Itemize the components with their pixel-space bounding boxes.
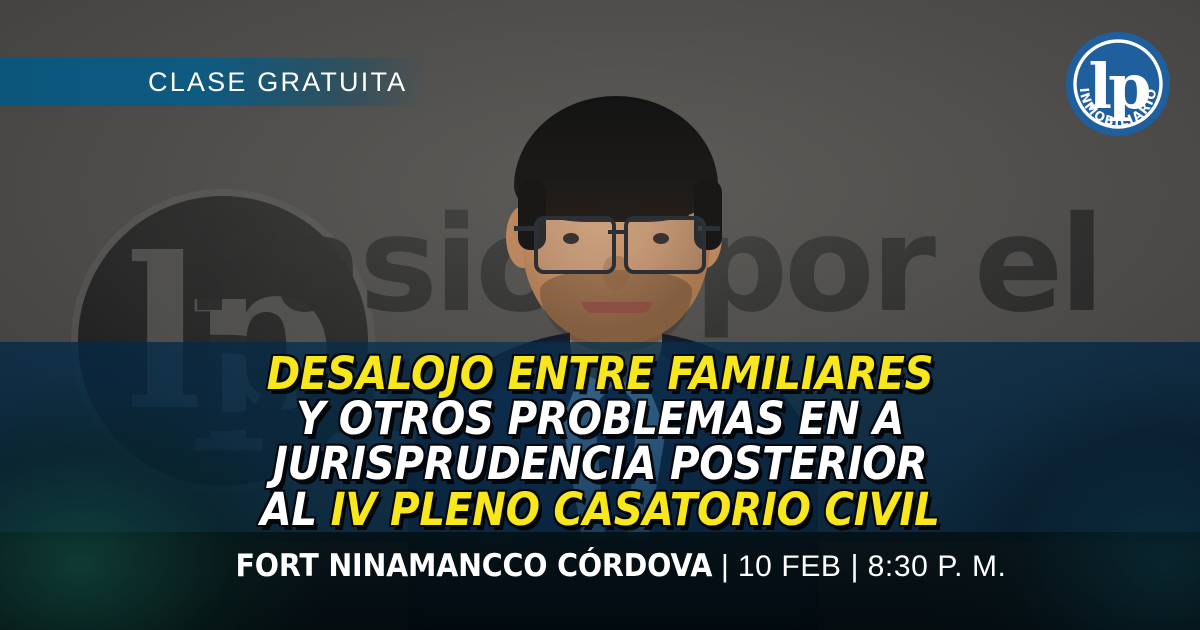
portrait-glasses-temple-left xyxy=(514,226,536,231)
headline: DESALOJO ENTRE FAMILIARES Y OTROS PROBLE… xyxy=(0,352,1200,533)
portrait-glasses-lens-left xyxy=(534,216,616,274)
event-date: 10 FEB xyxy=(738,550,842,583)
separator-1: | xyxy=(712,548,738,583)
portrait-glasses-bridge xyxy=(608,230,624,234)
promo-poster: lp Pasión por el Derecho xyxy=(0,0,1200,630)
headline-line-4-prefix: AL xyxy=(260,483,330,536)
headline-line-1: DESALOJO ENTRE FAMILIARES xyxy=(60,352,1140,395)
clase-gratuita-ribbon: CLASE GRATUITA xyxy=(0,58,430,106)
speaker-name: FORT NINAMANCCO CÓRDOVA xyxy=(235,548,712,584)
portrait-mouth xyxy=(582,302,652,313)
clase-gratuita-label: CLASE GRATUITA xyxy=(148,67,407,98)
headline-line-4-highlight: IV PLENO CASATORIO CIVIL xyxy=(331,483,940,536)
logo-badge-icon: lp INMOBILIARIO xyxy=(1062,28,1174,140)
headline-line-2: Y OTROS PROBLEMAS EN A xyxy=(60,397,1140,440)
separator-2: | xyxy=(842,548,868,583)
lp-inmobiliario-logo[interactable]: lp INMOBILIARIO xyxy=(1062,28,1174,140)
headline-line-4: AL IV PLENO CASATORIO CIVIL xyxy=(60,488,1140,531)
headline-line-3: JURISPRUDENCIA POSTERIOR xyxy=(60,442,1140,485)
event-time: 8:30 P. M. xyxy=(868,550,1007,583)
portrait-glasses-lens-right xyxy=(624,216,706,274)
speaker-schedule-line: FORT NINAMANCCO CÓRDOVA|10 FEB|8:30 P. M… xyxy=(0,548,1200,584)
